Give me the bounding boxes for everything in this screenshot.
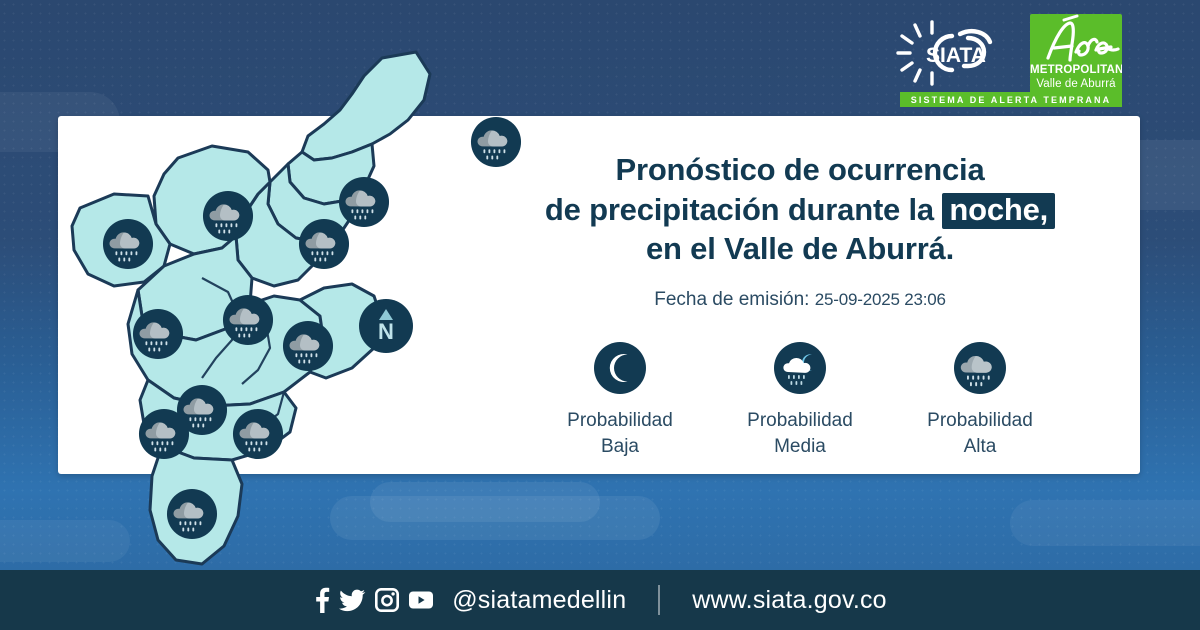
am-line-metropolitana: METROPOLITANA xyxy=(1030,64,1122,76)
emission-date-value: 25-09-2025 23:06 xyxy=(815,290,946,309)
legend-label-media: Probabilidad Media xyxy=(747,408,853,459)
emission-date-label: Fecha de emisión: xyxy=(654,289,809,310)
map-marker-medellin-e xyxy=(282,320,334,372)
social-handle[interactable]: @siatamedellin xyxy=(452,586,626,615)
siata-wordmark: SIATA xyxy=(926,44,986,67)
cloud-rain-heavy-icon xyxy=(232,408,284,460)
region-barbosa xyxy=(302,52,430,160)
cloud-rain-heavy-icon xyxy=(132,308,184,360)
title-highlight-noche: noche, xyxy=(942,193,1055,230)
cloud-rain-heavy-icon xyxy=(138,408,190,460)
legend-alta-line2: Alta xyxy=(927,434,1033,460)
instagram-icon[interactable] xyxy=(375,588,399,612)
map-marker-san-pedro xyxy=(202,190,254,242)
footer-divider xyxy=(658,585,660,615)
legend-item-alta: Probabilidad Alta xyxy=(890,341,1070,459)
probability-legend: Probabilidad Baja xyxy=(470,341,1130,459)
siata-logo: SIATA xyxy=(890,14,1020,92)
cloud-rain-heavy-icon xyxy=(282,320,334,372)
legend-item-baja: Probabilidad Baja xyxy=(530,341,710,459)
title-line-2: de precipitación durante la noche, xyxy=(470,190,1130,230)
cloud-rain-heavy-icon xyxy=(202,190,254,242)
legend-media-line1: Probabilidad xyxy=(747,408,853,434)
legend-baja-line2: Baja xyxy=(567,434,673,460)
youtube-icon[interactable] xyxy=(408,590,434,610)
legend-label-baja: Probabilidad Baja xyxy=(567,408,673,459)
footer-content: @siatamedellin www.siata.gov.co xyxy=(313,585,887,615)
website-url[interactable]: www.siata.gov.co xyxy=(692,586,886,615)
legend-alta-line1: Probabilidad xyxy=(927,408,1033,434)
map-marker-copacabana xyxy=(298,218,350,270)
area-metropolitana-logo: METROPOLITANA Valle de Aburrá xyxy=(1030,14,1122,100)
cloud-rain-heavy-icon xyxy=(166,488,218,540)
title-line-2-text: de precipitación durante la xyxy=(545,192,934,227)
compass-north-marker: N xyxy=(358,298,414,354)
siata-tagline-bar: SISTEMA DE ALERTA TEMPRANA xyxy=(900,92,1122,107)
map-marker-bello-norte xyxy=(102,218,154,270)
page-title: Pronóstico de ocurrencia de precipitació… xyxy=(470,150,1130,269)
siata-tagline-text: SISTEMA DE ALERTA TEMPRANA xyxy=(911,95,1111,105)
map-marker-caldas xyxy=(166,488,218,540)
twitter-icon[interactable] xyxy=(339,587,366,613)
valle-de-aburra-map: N xyxy=(52,48,432,568)
decorative-cloud-bottom-right xyxy=(1010,500,1200,546)
legend-item-media: Probabilidad Media xyxy=(710,341,890,459)
legend-media-line2: Media xyxy=(747,434,853,460)
moon-icon xyxy=(593,341,647,395)
legend-baja-line1: Probabilidad xyxy=(567,408,673,434)
am-line-valle: Valle de Aburrá xyxy=(1030,78,1122,90)
map-marker-bello xyxy=(222,294,274,346)
title-line-1: Pronóstico de ocurrencia xyxy=(470,150,1130,190)
cloud-rain-heavy-icon xyxy=(953,341,1007,395)
svg-text:N: N xyxy=(378,319,394,344)
forecast-content: Pronóstico de ocurrencia de precipitació… xyxy=(470,150,1130,459)
map-marker-sabaneta xyxy=(232,408,284,460)
area-script-icon xyxy=(1030,14,1122,66)
cloud-rain-heavy-icon xyxy=(298,218,350,270)
emission-date: Fecha de emisión: 25-09-2025 23:06 xyxy=(470,289,1130,311)
logo-group: SIATA METROPOLITANA Valle de Aburrá xyxy=(890,14,1122,100)
legend-label-alta: Probabilidad Alta xyxy=(927,408,1033,459)
facebook-icon[interactable] xyxy=(313,587,330,613)
cloud-rain-moon-icon xyxy=(773,341,827,395)
map-marker-medellin-w xyxy=(132,308,184,360)
infographic-canvas: N Pronóstico de ocurrencia de precipitac… xyxy=(0,0,1200,630)
footer-bar: @siatamedellin www.siata.gov.co xyxy=(0,570,1200,630)
cloud-rain-heavy-icon xyxy=(102,218,154,270)
social-icons xyxy=(313,587,434,613)
cloud-rain-heavy-icon xyxy=(222,294,274,346)
title-line-3: en el Valle de Aburrá. xyxy=(470,229,1130,269)
map-marker-la-estrella xyxy=(138,408,190,460)
